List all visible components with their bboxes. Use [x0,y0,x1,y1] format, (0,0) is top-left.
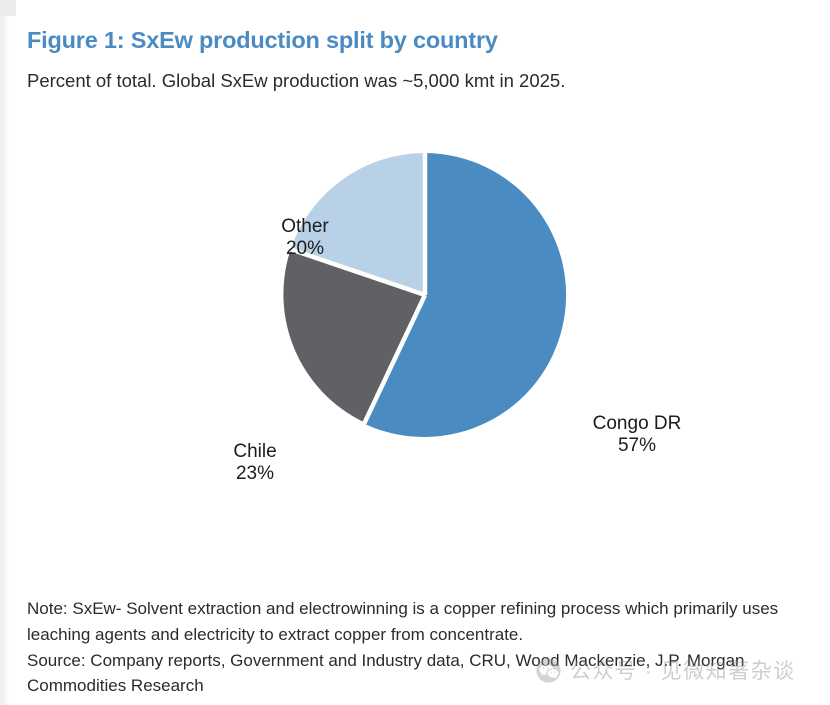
footnote-source: Source: Company reports, Government and … [27,648,805,700]
figure-page: Figure 1: SxEw production split by count… [0,0,830,705]
slice-label-other-name: Other [281,216,329,237]
slice-label-congo-dr-name: Congo DR [593,413,682,434]
top-left-edge-block [0,0,16,16]
slice-label-chile: Chile 23% [196,441,314,485]
slice-label-chile-value: 23% [196,463,314,485]
footnotes: Note: SxEw- Solvent extraction and elect… [27,596,805,699]
footnote-note: Note: SxEw- Solvent extraction and elect… [27,596,805,648]
slice-label-congo-dr-value: 57% [568,435,706,457]
pie-chart: Other 20% Chile 23% Congo DR 57% [0,100,830,570]
pie-chart-svg [0,100,830,570]
slice-label-chile-name: Chile [233,441,276,462]
slice-label-other-value: 20% [246,238,364,260]
figure-title: Figure 1: SxEw production split by count… [27,27,498,54]
slice-label-other: Other 20% [246,216,364,260]
figure-subtitle: Percent of total. Global SxEw production… [27,70,565,92]
slice-label-congo-dr: Congo DR 57% [568,413,706,457]
